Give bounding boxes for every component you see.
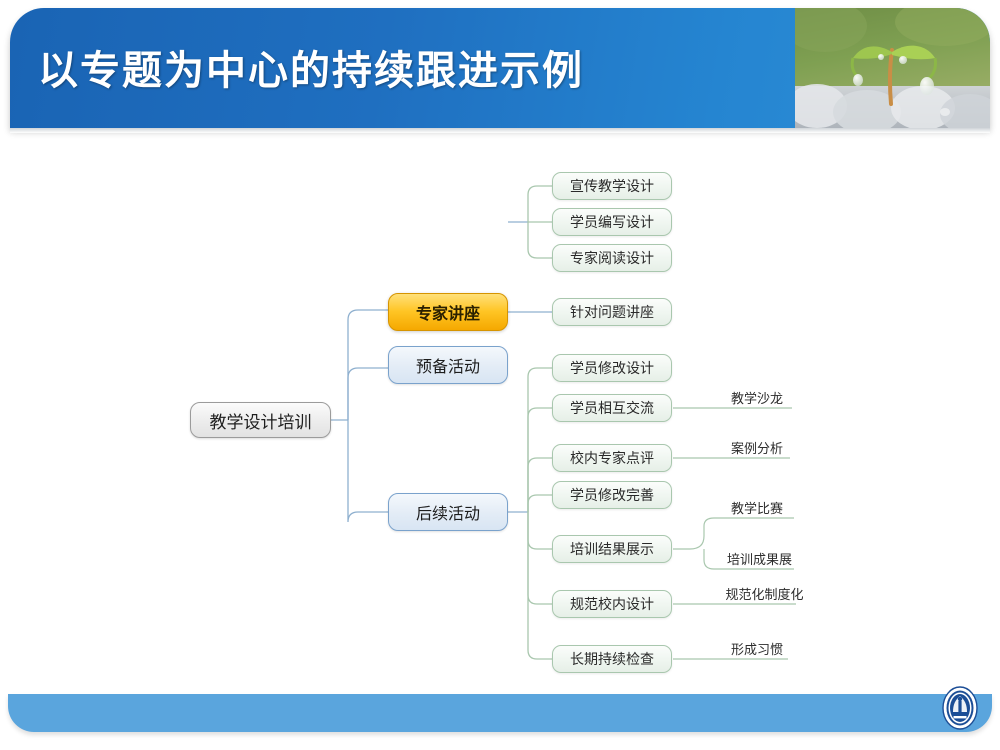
node-subleaf-form-habit[interactable]: 形成习惯 (712, 638, 802, 658)
sprout-photo-image (795, 8, 990, 128)
node-leaf-trainee-write-design[interactable]: 学员编写设计 (552, 208, 672, 236)
node-subleaf-teaching-salon[interactable]: 教学沙龙 (712, 387, 802, 407)
node-leaf-school-expert-review[interactable]: 校内专家点评 (552, 444, 672, 472)
node-subleaf-results-exhibition[interactable]: 培训成果展 (712, 548, 807, 568)
slide-canvas: 以专题为中心的持续跟进示例 (0, 0, 1000, 750)
emblem-icon (942, 686, 978, 730)
node-leaf-standardize-design[interactable]: 规范校内设计 (552, 590, 672, 618)
node-leaf-promote-design[interactable]: 宣传教学设计 (552, 172, 672, 200)
node-leaf-trainee-exchange[interactable]: 学员相互交流 (552, 394, 672, 422)
node-branch-preparation[interactable]: 预备活动 (388, 346, 508, 384)
university-emblem-logo (942, 686, 978, 730)
node-leaf-expert-read-design[interactable]: 专家阅读设计 (552, 244, 672, 272)
mindmap-connectors (0, 140, 1000, 680)
node-root[interactable]: 教学设计培训 (190, 402, 331, 438)
sprout-photo (795, 8, 990, 128)
mindmap: 教学设计培训 预备活动 专家讲座 后续活动 宣传教学设计 学员编写设计 专家阅读… (0, 140, 1000, 680)
header-divider (10, 128, 990, 133)
node-subleaf-standardization[interactable]: 规范化制度化 (712, 583, 817, 603)
node-subleaf-case-analysis[interactable]: 案例分析 (712, 437, 802, 457)
node-leaf-targeted-lecture[interactable]: 针对问题讲座 (552, 298, 672, 326)
slide-footer (8, 694, 992, 732)
node-branch-expert-lecture[interactable]: 专家讲座 (388, 293, 508, 331)
node-leaf-training-results-show[interactable]: 培训结果展示 (552, 535, 672, 563)
slide-header: 以专题为中心的持续跟进示例 (10, 8, 990, 128)
node-leaf-trainee-revise-design[interactable]: 学员修改设计 (552, 354, 672, 382)
node-subleaf-teaching-contest[interactable]: 教学比赛 (712, 497, 802, 517)
node-leaf-long-term-check[interactable]: 长期持续检查 (552, 645, 672, 673)
node-branch-followup[interactable]: 后续活动 (388, 493, 508, 531)
node-leaf-trainee-improve[interactable]: 学员修改完善 (552, 481, 672, 509)
page-title: 以专题为中心的持续跟进示例 (38, 38, 584, 96)
